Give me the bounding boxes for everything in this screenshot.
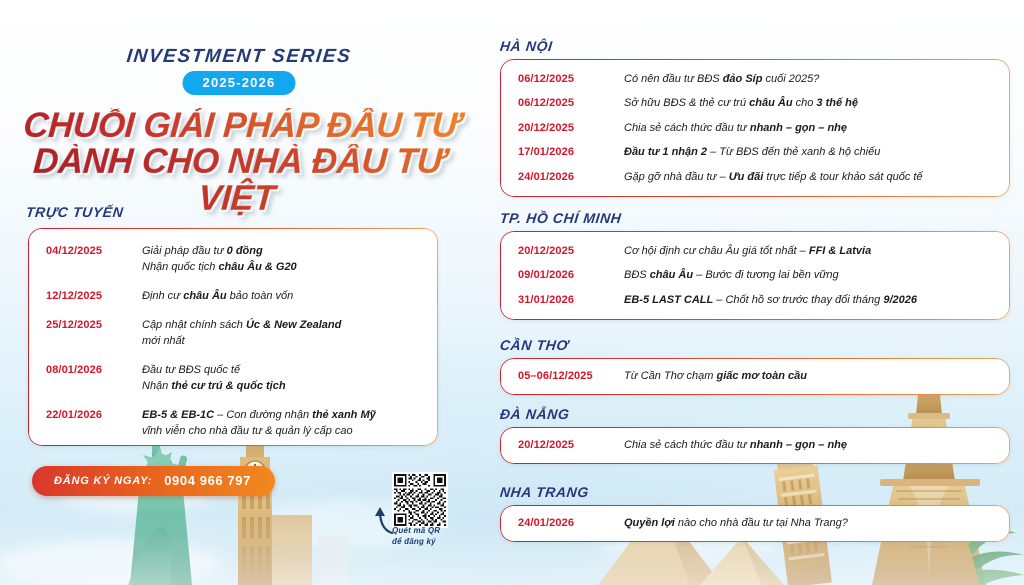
section-label-hcm: TP. HỒ CHÍ MINH bbox=[499, 210, 622, 226]
qr-code[interactable] bbox=[392, 472, 448, 528]
schedule-row-description: Định cư châu Âu bảo toàn vốn bbox=[142, 289, 424, 305]
schedule-row: 25/12/2025Cập nhật chính sách Úc & New Z… bbox=[46, 318, 424, 350]
poster-root: INVESTMENT SERIES 2025-2026 CHUỖI GIẢI P… bbox=[0, 0, 1024, 585]
city-group-danang: ĐÀ NẴNG 20/12/2025Chia sẻ cách thức đầu … bbox=[500, 406, 1010, 464]
schedule-row-description: Đầu tư BĐS quốc tếNhận thẻ cư trú & quốc… bbox=[142, 363, 424, 395]
city-group-hcm: TP. HỒ CHÍ MINH 20/12/2025Cơ hội định cư… bbox=[500, 210, 1010, 320]
schedule-row: 08/01/2026Đầu tư BĐS quốc tếNhận thẻ cư … bbox=[46, 363, 424, 395]
schedule-row: 06/12/2025Có nên đầu tư BĐS đảo Síp cuối… bbox=[518, 72, 996, 87]
qr-instruction-text: Quét mã QR để đăng ký bbox=[392, 526, 440, 548]
schedule-row: 20/12/2025Chia sẻ cách thức đầu tư nhanh… bbox=[518, 438, 996, 453]
schedule-row: 09/01/2026BĐS châu Âu – Bước đi tương la… bbox=[518, 268, 996, 283]
schedule-row: 04/12/2025Giải pháp đầu tư 0 đồngNhận qu… bbox=[46, 244, 424, 276]
schedule-row-date: 06/12/2025 bbox=[518, 96, 624, 109]
city-group-nhatrang: NHA TRANG 24/01/2026Quyền lợi nào cho nh… bbox=[500, 484, 1010, 542]
page-title: CHUỖI GIẢI PHÁP ĐẦU TƯ DÀNH CHO NHÀ ĐẦU … bbox=[0, 108, 482, 217]
schedule-list-nhatrang: 24/01/2026Quyền lợi nào cho nhà đầu tư t… bbox=[500, 505, 1010, 542]
schedule-row-date: 24/01/2026 bbox=[518, 516, 624, 529]
city-group-cantho: CẦN THƠ 05–06/12/2025Từ Cần Thơ chạm giấ… bbox=[500, 337, 1010, 395]
schedule-row-date: 24/01/2026 bbox=[518, 170, 624, 183]
schedule-row: 06/12/2025Sở hữu BĐS & thẻ cư trú châu Â… bbox=[518, 96, 996, 111]
section-label-cantho: CẦN THƠ bbox=[499, 337, 569, 353]
schedule-row-description: BĐS châu Âu – Bước đi tương lai bền vững bbox=[624, 268, 996, 283]
section-heading-online: TRỰC TUYẾN bbox=[26, 204, 123, 222]
schedule-row-date: 31/01/2026 bbox=[518, 293, 624, 306]
schedule-row-date: 20/12/2025 bbox=[518, 244, 624, 257]
schedule-row-date: 20/12/2025 bbox=[518, 121, 624, 134]
schedule-row-description: EB-5 & EB-1C – Con đường nhận thẻ xanh M… bbox=[142, 408, 424, 440]
schedule-card-cantho: 05–06/12/2025Từ Cần Thơ chạm giấc mơ toà… bbox=[500, 358, 1010, 395]
schedule-row-description: Cơ hội định cư châu Âu giá tốt nhất – FF… bbox=[624, 244, 996, 259]
schedule-row: 17/01/2026Đầu tư 1 nhận 2 – Từ BĐS đến t… bbox=[518, 145, 996, 160]
schedule-row-description: Cập nhật chính sách Úc & New Zealandmới … bbox=[142, 318, 424, 350]
schedule-row-description: Chia sẻ cách thức đầu tư nhanh – gọn – n… bbox=[624, 121, 996, 136]
schedule-card-nhatrang: 24/01/2026Quyền lợi nào cho nhà đầu tư t… bbox=[500, 505, 1010, 542]
schedule-row-description: EB-5 LAST CALL – Chốt hồ sơ trước thay đ… bbox=[624, 293, 996, 308]
schedule-row: 31/01/2026EB-5 LAST CALL – Chốt hồ sơ tr… bbox=[518, 293, 996, 308]
qr-line-2: để đăng ký bbox=[392, 537, 440, 548]
cta-label: ĐĂNG KÝ NGAY: bbox=[54, 475, 152, 487]
qr-line-1: Quét mã QR bbox=[392, 526, 440, 537]
schedule-card-hcm: 20/12/2025Cơ hội định cư châu Âu giá tốt… bbox=[500, 231, 1010, 320]
section-label-truc-tuyen: TRỰC TUYẾN bbox=[25, 204, 124, 220]
schedule-row-description: Quyền lợi nào cho nhà đầu tư tại Nha Tra… bbox=[624, 516, 996, 531]
schedule-row-date: 06/12/2025 bbox=[518, 72, 624, 85]
schedule-list-danang: 20/12/2025Chia sẻ cách thức đầu tư nhanh… bbox=[500, 427, 1010, 464]
schedule-card-danang: 20/12/2025Chia sẻ cách thức đầu tư nhanh… bbox=[500, 427, 1010, 464]
section-label-hanoi: HÀ NỘI bbox=[499, 38, 553, 54]
schedule-row-date: 20/12/2025 bbox=[518, 438, 624, 451]
schedule-row: 20/12/2025Cơ hội định cư châu Âu giá tốt… bbox=[518, 244, 996, 259]
schedule-row-description: Từ Cần Thơ chạm giấc mơ toàn cầu bbox=[624, 369, 996, 384]
cta-phone-number: 0904 966 797 bbox=[164, 473, 251, 488]
schedule-list-online: 04/12/2025Giải pháp đầu tư 0 đồngNhận qu… bbox=[28, 228, 438, 449]
schedule-row-date: 09/01/2026 bbox=[518, 268, 624, 281]
schedule-row: 12/12/2025Định cư châu Âu bảo toàn vốn bbox=[46, 289, 424, 305]
city-group-hanoi: HÀ NỘI 06/12/2025Có nên đầu tư BĐS đảo S… bbox=[500, 38, 1010, 197]
right-column: HÀ NỘI 06/12/2025Có nên đầu tư BĐS đảo S… bbox=[486, 0, 1024, 585]
schedule-row-date: 25/12/2025 bbox=[46, 318, 142, 331]
schedule-row: 24/01/2026Gặp gỡ nhà đầu tư – Ưu đãi trự… bbox=[518, 170, 996, 185]
schedule-row-description: Có nên đầu tư BĐS đảo Síp cuối 2025? bbox=[624, 72, 996, 87]
schedule-row-date: 17/01/2026 bbox=[518, 145, 624, 158]
section-label-nhatrang: NHA TRANG bbox=[499, 484, 590, 500]
section-label-danang: ĐÀ NẴNG bbox=[499, 406, 570, 422]
schedule-row: 20/12/2025Chia sẻ cách thức đầu tư nhanh… bbox=[518, 121, 996, 136]
schedule-row-date: 04/12/2025 bbox=[46, 244, 142, 257]
schedule-row-date: 05–06/12/2025 bbox=[518, 369, 624, 382]
schedule-row-description: Đầu tư 1 nhận 2 – Từ BĐS đến thẻ xanh & … bbox=[624, 145, 996, 160]
schedule-row-description: Sở hữu BĐS & thẻ cư trú châu Âu cho 3 th… bbox=[624, 96, 996, 111]
year-badge: 2025-2026 bbox=[183, 71, 296, 95]
schedule-row-date: 22/01/2026 bbox=[46, 408, 142, 421]
schedule-row-date: 12/12/2025 bbox=[46, 289, 142, 302]
register-cta-banner[interactable]: ĐĂNG KÝ NGAY: 0904 966 797 bbox=[32, 466, 275, 496]
schedule-row-description: Chia sẻ cách thức đầu tư nhanh – gọn – n… bbox=[624, 438, 996, 453]
qr-code-image bbox=[394, 474, 446, 526]
schedule-row-description: Gặp gỡ nhà đầu tư – Ưu đãi trực tiếp & t… bbox=[624, 170, 996, 185]
schedule-list-hcm: 20/12/2025Cơ hội định cư châu Âu giá tốt… bbox=[500, 231, 1010, 320]
schedule-row-date: 08/01/2026 bbox=[46, 363, 142, 376]
title-line-1: CHUỖI GIẢI PHÁP ĐẦU TƯ bbox=[1, 108, 482, 144]
schedule-row: 05–06/12/2025Từ Cần Thơ chạm giấc mơ toà… bbox=[518, 369, 996, 384]
schedule-card-hanoi: 06/12/2025Có nên đầu tư BĐS đảo Síp cuối… bbox=[500, 59, 1010, 197]
schedule-list-cantho: 05–06/12/2025Từ Cần Thơ chạm giấc mơ toà… bbox=[500, 358, 1010, 395]
schedule-list-hanoi: 06/12/2025Có nên đầu tư BĐS đảo Síp cuối… bbox=[500, 59, 1010, 197]
schedule-row: 24/01/2026Quyền lợi nào cho nhà đầu tư t… bbox=[518, 516, 996, 531]
schedule-row: 22/01/2026EB-5 & EB-1C – Con đường nhận … bbox=[46, 408, 424, 440]
schedule-card-online: 04/12/2025Giải pháp đầu tư 0 đồngNhận qu… bbox=[28, 228, 438, 446]
schedule-row-description: Giải pháp đầu tư 0 đồngNhận quốc tịch ch… bbox=[142, 244, 424, 276]
eyebrow-investment-series: INVESTMENT SERIES bbox=[0, 46, 479, 68]
left-column: INVESTMENT SERIES 2025-2026 CHUỖI GIẢI P… bbox=[0, 0, 478, 585]
